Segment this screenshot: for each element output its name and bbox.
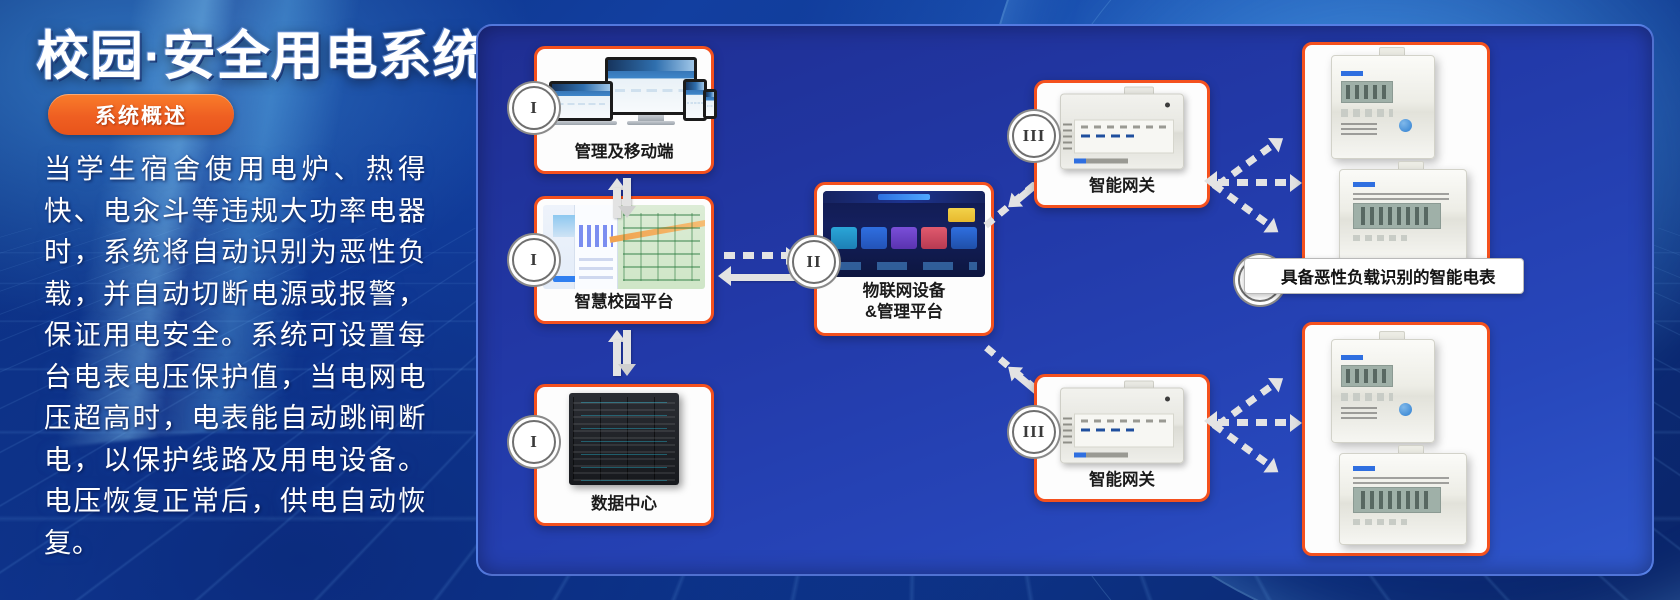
connector-gateway-top-to-meters [1214,86,1304,266]
smart-meter-single-phase-icon [1331,55,1435,159]
gateway-icon [1043,89,1201,177]
numeral-badge-3: I [512,420,556,464]
section-badge-label: 系统概述 [95,100,187,130]
connector-platform-to-iot [718,252,802,288]
node-gateway-top[interactable]: 智能网关 [1034,80,1210,208]
node-admin-mobile-label: 管理及移动端 [537,142,711,163]
node-iot-platform-label-line2: &管理平台 [817,302,991,323]
node-iot-platform-label: 物联网设备 &管理平台 [817,281,991,323]
meter-caption-label: 具备恶性负载识别的智能电表 [1245,264,1496,288]
node-gateway-bottom[interactable]: 智能网关 [1034,374,1210,502]
connector-admin-to-platform [608,178,636,218]
intro-column: 校园·安全用电系统 系统概述 当学生宿舍使用电炉、热得快、电汆斗等违规大功率电器… [0,0,470,600]
node-iot-platform[interactable]: 物联网设备 &管理平台 [814,182,994,336]
numeral-badge-1: I [512,86,556,130]
meter-caption[interactable]: 具备恶性负载识别的智能电表 [1244,258,1524,294]
server-rack-icon [543,393,705,493]
node-gateway-top-label: 智能网关 [1037,176,1207,197]
gateway-icon [1043,383,1201,471]
smart-meter-three-phase-icon [1339,453,1467,545]
numeral-badge-5: III [1012,114,1056,158]
numeral-badge-6: III [1012,410,1056,454]
smart-meter-three-phase-icon [1339,169,1467,261]
node-gateway-bottom-label: 智能网关 [1037,470,1207,491]
connector-platform-to-datacenter [608,330,636,378]
node-data-center-label: 数据中心 [537,494,711,515]
node-data-center[interactable]: 数据中心 [534,384,714,526]
connector-gateway-bottom-to-meters [1214,326,1304,506]
numeral-badge-4: II [792,240,836,284]
numeral-badge-2: I [512,238,556,282]
overview-paragraph: 当学生宿舍使用电炉、热得快、电汆斗等违规大功率电器时，系统将自动识别为恶性负载，… [44,148,426,563]
iot-screen-icon [823,191,985,277]
architecture-diagram-panel: 管理及移动端 I 智慧校园平台 I 数据中心 I [476,24,1654,576]
section-badge: 系统概述 [48,94,234,135]
meter-panel-bottom[interactable] [1302,322,1490,556]
smart-meter-single-phase-icon [1331,339,1435,443]
devices-icon [543,55,705,139]
meter-panel-top[interactable] [1302,42,1490,276]
node-campus-platform-label: 智慧校园平台 [537,292,711,313]
node-admin-mobile[interactable]: 管理及移动端 [534,46,714,174]
node-iot-platform-label-line1: 物联网设备 [817,281,991,302]
page-title: 校园·安全用电系统 [36,14,487,90]
